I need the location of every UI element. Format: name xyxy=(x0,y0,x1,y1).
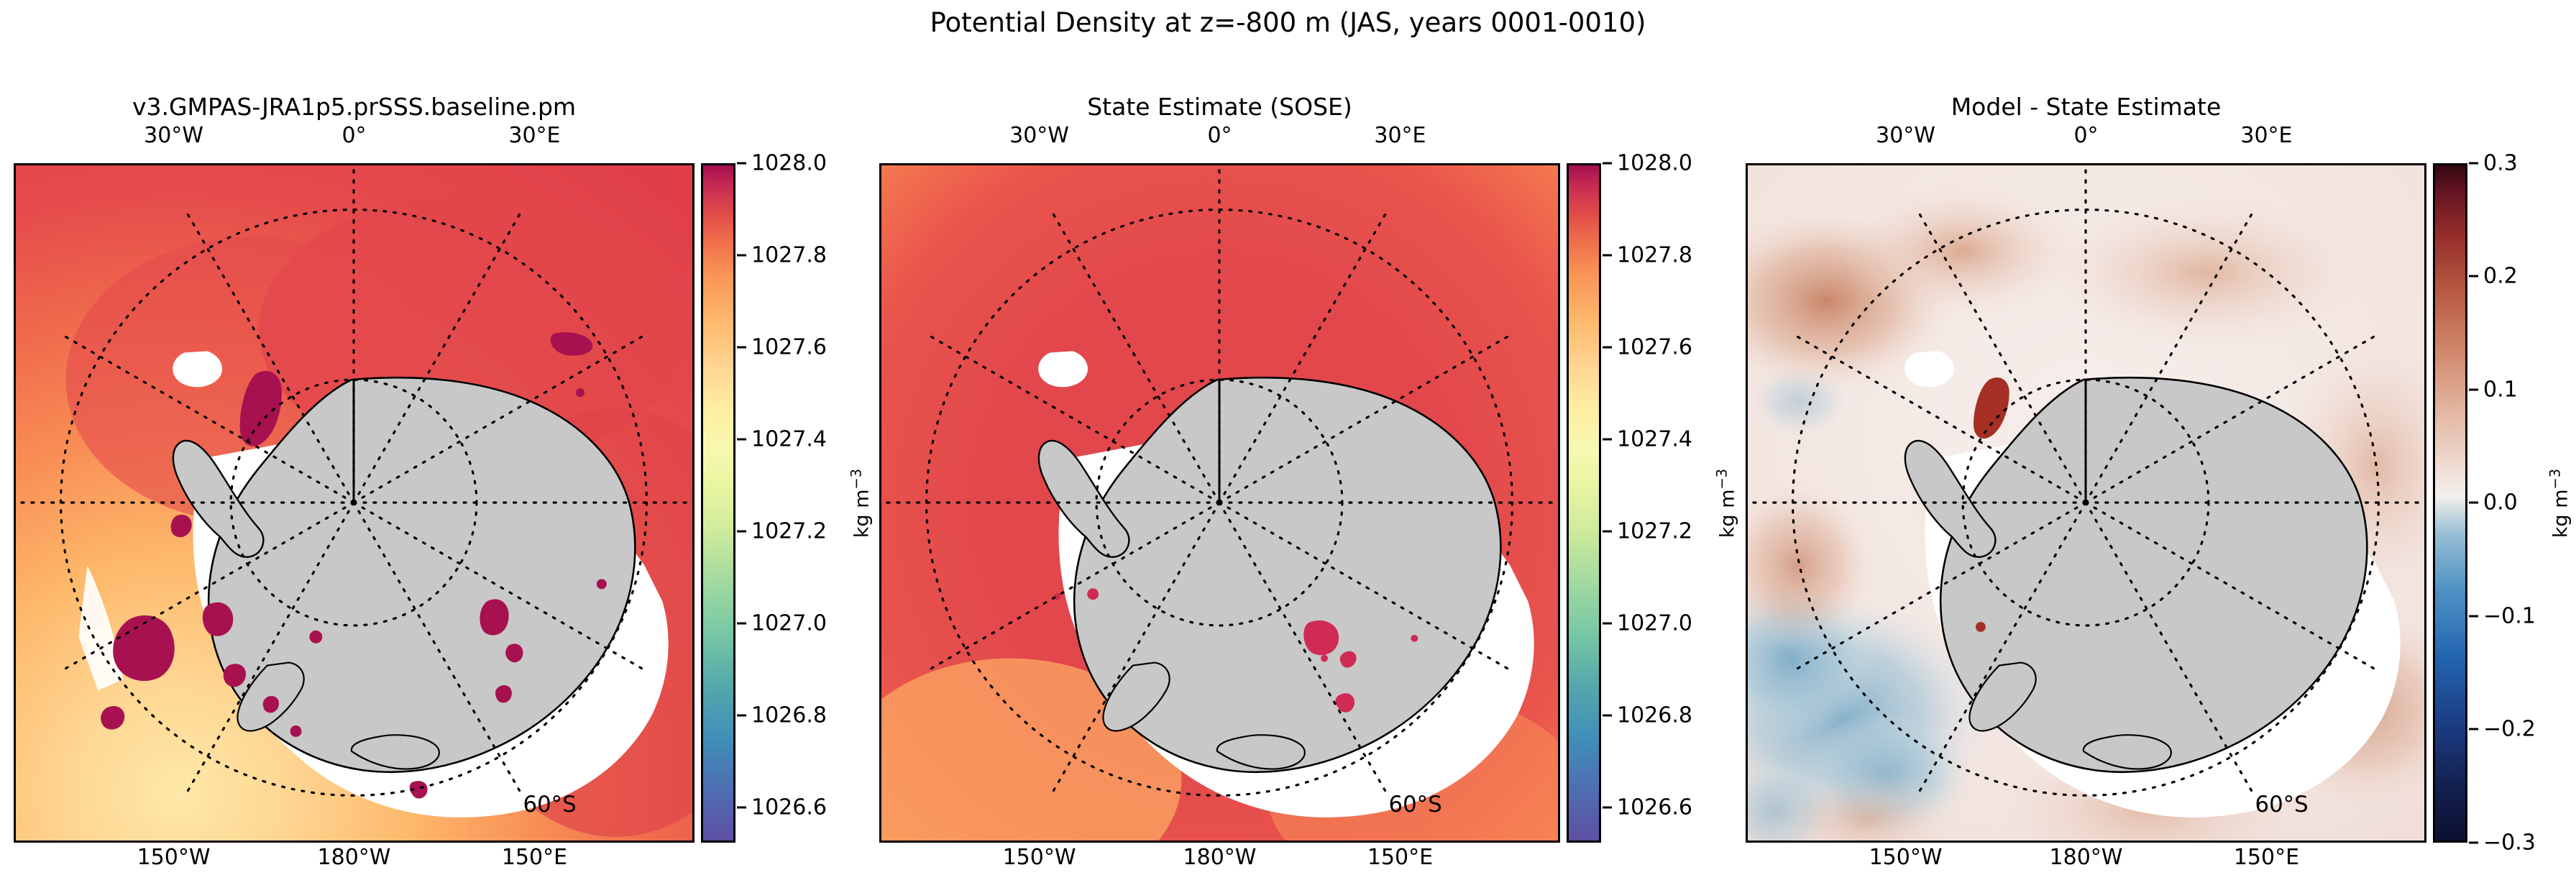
panel-model-map[interactable]: 60°S xyxy=(14,163,695,843)
cb2-tick-7: 1026.6 xyxy=(1617,795,1692,820)
panel-sose-bottom-axis: 150°W 180°W 150°E xyxy=(879,845,1560,874)
panel-difference-map[interactable]: 60°S xyxy=(1746,163,2426,843)
lon-tick-30w-diff: 30°W xyxy=(1876,123,1935,148)
lon-tick-30e-diff: 30°E xyxy=(2240,123,2292,148)
lon-tick-30w: 30°W xyxy=(144,123,203,148)
lon-tick-180w-diff: 180°W xyxy=(2050,845,2123,870)
lat-label-60s-sose: 60°S xyxy=(1389,792,1442,818)
cb2-tick-1: 1027.8 xyxy=(1617,243,1692,268)
cb1-tick-7: 1026.6 xyxy=(751,795,827,820)
cb1-tick-6: 1026.8 xyxy=(751,703,827,728)
colorbar-sose-unit: kg m−3 xyxy=(1714,469,1739,538)
colorbar-difference[interactable] xyxy=(2433,163,2467,843)
cb3-tick-0: 0.3 xyxy=(2483,151,2518,176)
cb3-tick-2: 0.1 xyxy=(2483,377,2518,403)
cb3-tick-4: −0.1 xyxy=(2483,604,2536,629)
figure-canvas: Potential Density at z=-800 m (JAS, year… xyxy=(0,0,2576,893)
panel-sose-top-axis: 30°W 0° 30°E xyxy=(879,123,1560,150)
lat-label-60s-diff: 60°S xyxy=(2255,792,2309,818)
lon-tick-0: 0° xyxy=(342,123,366,148)
lon-tick-180w: 180°W xyxy=(318,845,391,870)
panel-model: v3.GMPAS-JRA1p5.prSSS.baseline.pm 30°W 0… xyxy=(14,163,695,843)
lon-tick-150w: 150°W xyxy=(137,845,211,870)
cb3-tick-1: 0.2 xyxy=(2483,264,2518,289)
panel-sose-map[interactable]: 60°S xyxy=(879,163,1560,843)
colorbar-difference-unit: kg m−3 xyxy=(2547,469,2572,538)
lon-tick-30e: 30°E xyxy=(508,123,560,148)
lon-tick-150e: 150°E xyxy=(502,845,567,870)
cb1-tick-1: 1027.8 xyxy=(751,243,827,268)
cb2-tick-2: 1027.6 xyxy=(1617,335,1692,360)
lon-tick-150e-diff: 150°E xyxy=(2234,845,2299,870)
panel-sose: State Estimate (SOSE) 30°W 0° 30°E xyxy=(879,163,1560,843)
lon-tick-150e-sose: 150°E xyxy=(1367,845,1433,870)
cb1-tick-4: 1027.2 xyxy=(751,519,827,544)
cb1-tick-5: 1027.0 xyxy=(751,611,827,636)
colorbar-sose[interactable] xyxy=(1567,163,1601,843)
lat-label-60s-model: 60°S xyxy=(523,792,577,818)
panel-difference-top-axis: 30°W 0° 30°E xyxy=(1746,123,2426,150)
cb1-tick-0: 1028.0 xyxy=(751,151,827,176)
lon-tick-0-diff: 0° xyxy=(2073,123,2098,148)
panel-model-title: v3.GMPAS-JRA1p5.prSSS.baseline.pm xyxy=(14,93,695,121)
panel-model-bottom-axis: 150°W 180°W 150°E xyxy=(14,845,695,874)
figure-suptitle: Potential Density at z=-800 m (JAS, year… xyxy=(0,7,2576,38)
lon-tick-150w-sose: 150°W xyxy=(1003,845,1076,870)
cb2-tick-0: 1028.0 xyxy=(1617,151,1692,176)
cb3-tick-5: −0.2 xyxy=(2483,717,2536,742)
lon-tick-30w-sose: 30°W xyxy=(1009,123,1069,148)
cb1-tick-2: 1027.6 xyxy=(751,335,827,360)
cb3-tick-3: 0.0 xyxy=(2483,490,2518,516)
map-difference-svg: 60°S xyxy=(1748,165,2424,841)
colorbar-model[interactable] xyxy=(701,163,735,843)
cb2-tick-5: 1027.0 xyxy=(1617,611,1692,636)
map-model-svg: 60°S xyxy=(16,165,692,841)
cb2-tick-3: 1027.4 xyxy=(1617,427,1692,452)
colorbar-model-unit: kg m−3 xyxy=(848,469,874,538)
lon-tick-0-sose: 0° xyxy=(1207,123,1232,148)
cb2-tick-4: 1027.2 xyxy=(1617,519,1692,544)
lon-tick-180w-sose: 180°W xyxy=(1183,845,1257,870)
panel-difference-title: Model - State Estimate xyxy=(1746,93,2426,121)
cb2-tick-6: 1026.8 xyxy=(1617,703,1692,728)
cb3-tick-6: −0.3 xyxy=(2483,830,2536,856)
map-sose-svg: 60°S xyxy=(881,165,1558,841)
panel-difference-bottom-axis: 150°W 180°W 150°E xyxy=(1746,845,2426,874)
panel-model-top-axis: 30°W 0° 30°E xyxy=(14,123,695,150)
panel-sose-title: State Estimate (SOSE) xyxy=(879,93,1560,121)
panel-difference: Model - State Estimate 30°W 0° 30°E xyxy=(1746,163,2426,843)
lon-tick-30e-sose: 30°E xyxy=(1374,123,1426,148)
lon-tick-150w-diff: 150°W xyxy=(1869,845,1943,870)
cb1-tick-3: 1027.4 xyxy=(751,427,827,452)
